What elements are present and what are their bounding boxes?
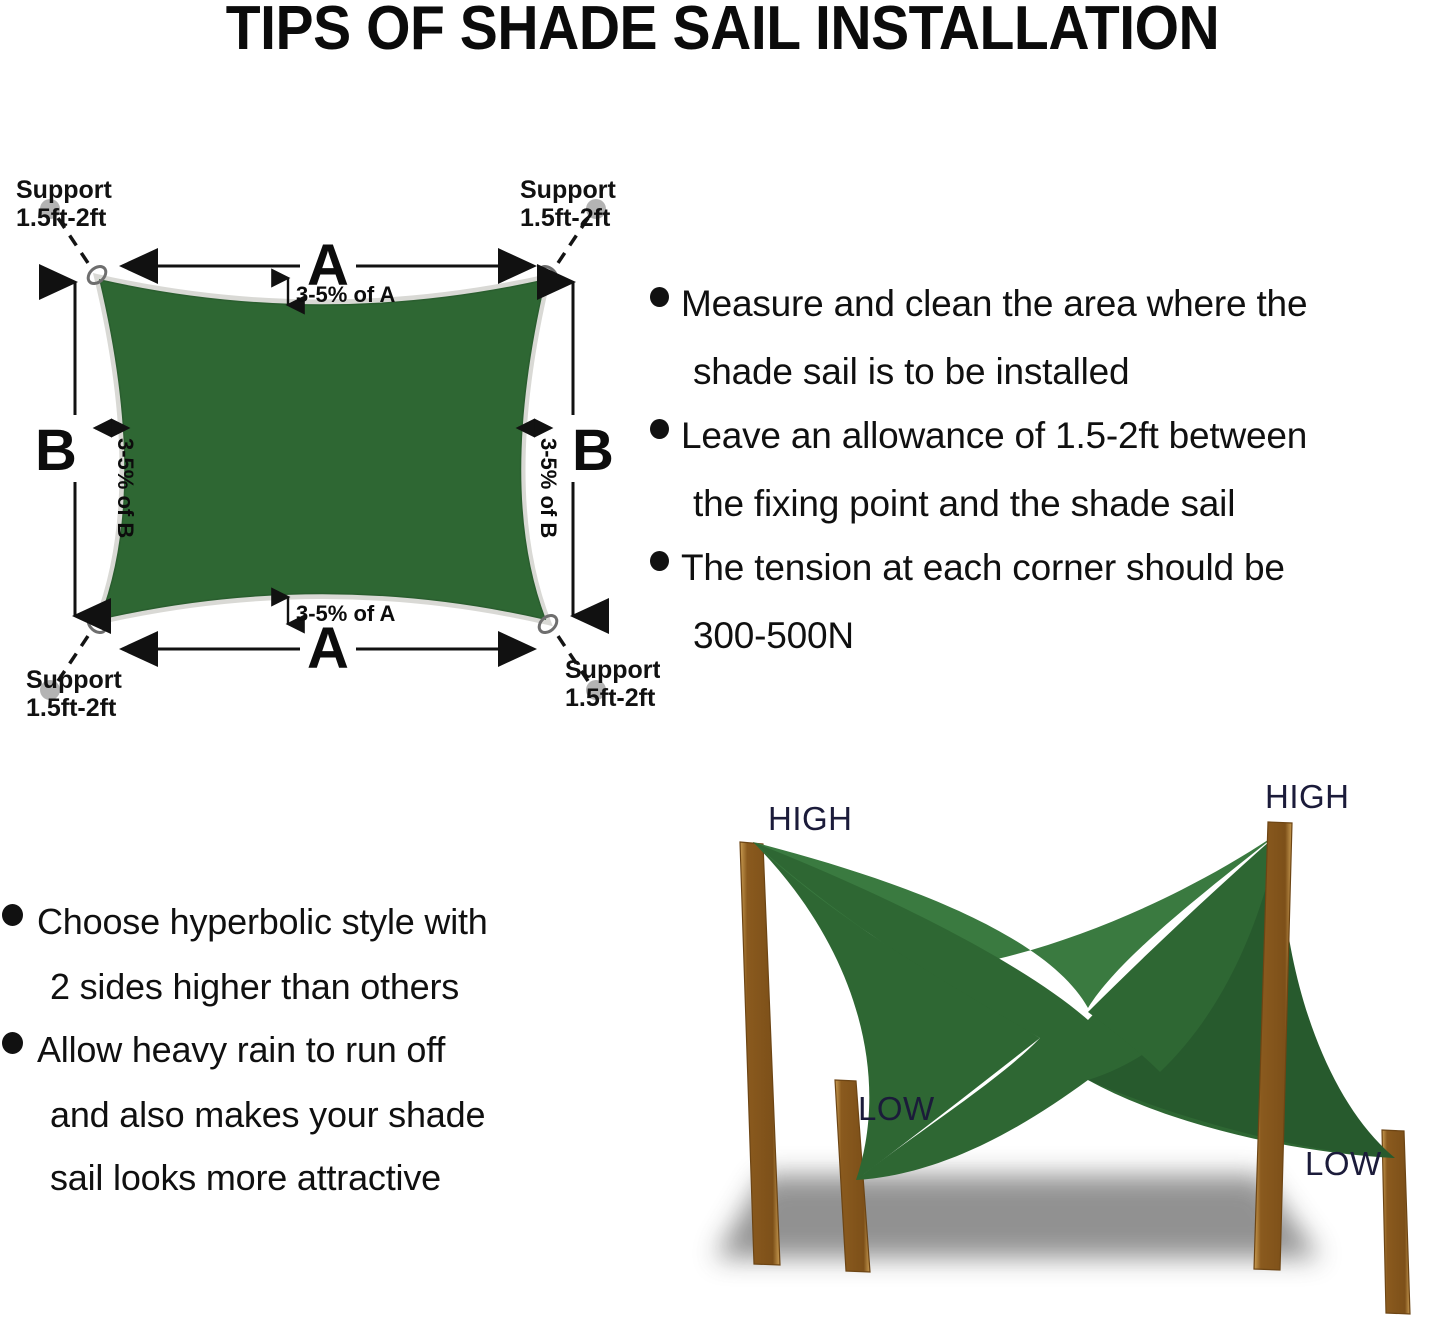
tip-text-continued: sail looks more attractive	[2, 1146, 632, 1209]
dimension-b-right: B	[572, 282, 614, 616]
tip-text: Allow heavy rain to run off	[37, 1018, 445, 1081]
label-high-right: HIGH	[1265, 780, 1350, 815]
dimension-b-left: B	[35, 282, 77, 616]
post-low-right	[1382, 1130, 1410, 1314]
curve-label-top-text: 3-5% of A	[296, 282, 396, 307]
list-item: Allow heavy rain to run off	[2, 1018, 632, 1081]
bullet-dot-icon	[650, 287, 669, 307]
bullet-dot-icon	[650, 419, 669, 439]
support-caption-bottom-left-line2: 1.5ft-2ft	[26, 694, 117, 722]
tip-text-continued: the fixing point and the shade sail	[650, 472, 1445, 536]
label-high-left: HIGH	[768, 800, 853, 837]
tip-text: Leave an allowance of 1.5-2ft between	[681, 404, 1307, 468]
rectangular-sail-diagram: A 3-5% of A 3-5% of A A B 3-5% of B	[0, 160, 660, 730]
curve-label-left-text: 3-5% of B	[113, 438, 138, 538]
list-item: Measure and clean the area where the	[650, 272, 1445, 336]
sail-shape	[97, 277, 548, 622]
dimension-label-b-left: B	[35, 418, 77, 483]
label-low-left: LOW	[858, 1090, 935, 1127]
curve-label-left: 3-5% of B	[95, 428, 138, 538]
tip-text-continued: shade sail is to be installed	[650, 340, 1445, 404]
hyperbolic-sail-diagram: HIGH HIGH LOW LOW	[620, 780, 1445, 1319]
support-caption-bottom-left-line1: Support	[26, 666, 122, 694]
label-low-right: LOW	[1305, 1145, 1382, 1182]
bullet-dot-icon	[2, 1032, 23, 1054]
support-caption-top-right-line1: Support	[520, 176, 616, 204]
tip-text: Measure and clean the area where the	[681, 272, 1307, 336]
dimension-label-a-bottom: A	[307, 616, 349, 681]
dimension-a-bottom: A	[122, 616, 534, 681]
dimension-label-b-right: B	[572, 418, 614, 483]
support-caption-bottom-right-line1: Support	[565, 656, 660, 684]
list-item: Leave an allowance of 1.5-2ft between	[650, 404, 1445, 468]
hyperbolic-style-tips-list: Choose hyperbolic style with 2 sides hig…	[2, 890, 632, 1209]
support-caption-top-right-line2: 1.5ft-2ft	[520, 204, 611, 232]
list-item: Choose hyperbolic style with	[2, 890, 632, 953]
curve-label-right-text: 3-5% of B	[536, 438, 561, 538]
support-caption-bottom-right-line2: 1.5ft-2ft	[565, 684, 656, 712]
bullet-dot-icon	[650, 551, 669, 571]
support-caption-top-left-line1: Support	[16, 176, 112, 204]
tip-text: The tension at each corner should be	[681, 536, 1285, 600]
post-high-left	[740, 842, 780, 1265]
ground-shadow	[715, 1175, 1320, 1258]
installation-tips-list: Measure and clean the area where the sha…	[650, 272, 1445, 668]
tip-text-continued: 2 sides higher than others	[2, 955, 632, 1018]
tip-text-continued: and also makes your shade	[2, 1083, 632, 1146]
list-item: The tension at each corner should be	[650, 536, 1445, 600]
tip-text-continued: 300-500N	[650, 604, 1445, 668]
page-title: TIPS OF SHADE SAIL INSTALLATION	[58, 0, 1387, 61]
tip-text: Choose hyperbolic style with	[37, 890, 488, 953]
bullet-dot-icon	[2, 904, 23, 926]
support-caption-top-left-line2: 1.5ft-2ft	[16, 204, 107, 232]
curve-label-top: 3-5% of A	[288, 278, 396, 307]
